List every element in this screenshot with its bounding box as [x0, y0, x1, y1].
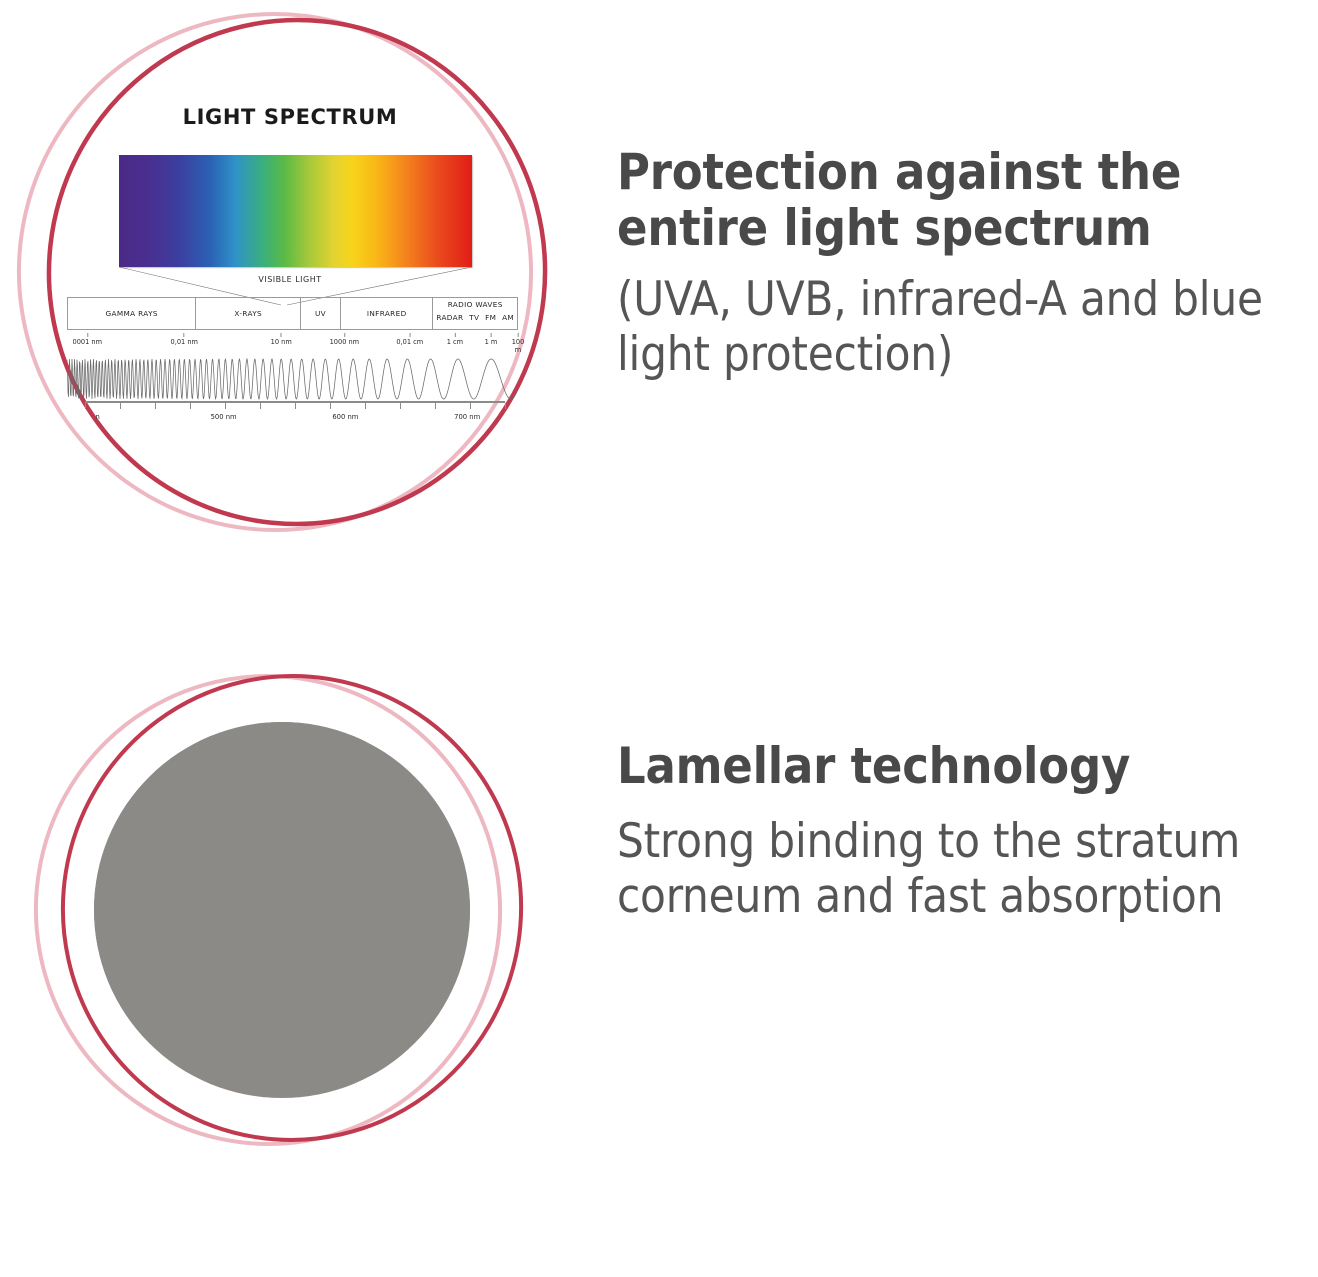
band-label: INFRARED [367, 309, 407, 318]
scale-label: 0001 nm [73, 338, 102, 346]
lamellar-text-column: Lamellar technology Strong binding to th… [617, 738, 1317, 924]
nm-label: 700 nm [454, 413, 480, 421]
photo-background [94, 722, 470, 1098]
axis-tick [120, 403, 121, 409]
axis-tick [225, 403, 226, 409]
scale-label: 10 nm [271, 338, 292, 346]
section-lamellar-technology: Lamellar technology Strong binding to th… [0, 640, 1318, 1277]
scale-item: 1 cm [447, 333, 463, 346]
section-light-spectrum: LIGHT SPECTRUM VISIBLE LIGHT GAMMA RAYS … [0, 0, 1318, 620]
waveform-svg [67, 351, 518, 407]
spectrum-subline: (UVA, UVB, infrared-A and blue light pro… [617, 272, 1317, 382]
scale-item: 10 nm [271, 333, 292, 346]
light-spectrum-infographic: LIGHT SPECTRUM VISIBLE LIGHT GAMMA RAYS … [55, 105, 525, 425]
band-label: X-RAYS [234, 309, 262, 318]
scale-label: 1 cm [447, 338, 463, 346]
wavelength-scale: 0001 nm 0,01 nm 10 nm 1000 nm 0,01 cm 1 … [67, 333, 518, 349]
band-gamma-rays: GAMMA RAYS [68, 298, 196, 329]
axis-tick [435, 403, 436, 409]
scale-item: 0,01 cm [396, 333, 423, 346]
spectrum-headline: Protection against the entire light spec… [617, 144, 1317, 256]
scale-item: 0,01 nm [171, 333, 198, 346]
radio-sub-fm: FM [485, 313, 496, 322]
band-label: RADIO WAVES [448, 300, 503, 309]
lamellar-subline: Strong binding to the stratum corneum an… [617, 814, 1317, 924]
axis-tick [330, 403, 331, 409]
scale-label: 0,01 nm [171, 338, 198, 346]
radio-sub-labels: RADAR TV FM AM [433, 313, 517, 322]
axis-tick [155, 403, 156, 409]
nanometer-axis: n 500 nm 600 nm 700 nm [85, 401, 505, 425]
spectrum-text-column: Protection against the entire light spec… [617, 144, 1317, 382]
scale-label: 0,01 cm [396, 338, 423, 346]
scale-label: 1000 nm [330, 338, 359, 346]
axis-tick [85, 403, 86, 409]
lamellar-headline: Lamellar technology [617, 738, 1317, 794]
band-label: UV [315, 309, 326, 318]
scale-item: 1000 nm [330, 333, 359, 346]
axis-tick [365, 403, 366, 409]
radio-sub-am: AM [502, 313, 514, 322]
band-infrared: INFRARED [341, 298, 433, 329]
axis-tick [470, 403, 471, 409]
axis-tick [190, 403, 191, 409]
nm-label: 600 nm [332, 413, 358, 421]
axis-tick [505, 403, 506, 409]
axis-tick [400, 403, 401, 409]
visible-light-label: VISIBLE LIGHT [55, 275, 525, 284]
waveform-illustration [67, 351, 518, 407]
infographic-page: LIGHT SPECTRUM VISIBLE LIGHT GAMMA RAYS … [0, 0, 1318, 1277]
axis-tick [295, 403, 296, 409]
band-x-rays: X-RAYS [196, 298, 301, 329]
radio-sub-radar: RADAR [436, 313, 463, 322]
band-radio-waves: RADIO WAVES RADAR TV FM AM [433, 298, 517, 329]
spectrum-band-table: GAMMA RAYS X-RAYS UV INFRARED RADIO WAVE… [67, 297, 518, 330]
woman-applying-cream-photo [94, 722, 470, 1098]
visible-spectrum-gradient-bar [119, 155, 472, 267]
scale-item: 0001 nm [73, 333, 102, 346]
axis-tick [260, 403, 261, 409]
nm-label: n [95, 413, 99, 421]
nm-label: 500 nm [211, 413, 237, 421]
scale-label: 1 m [485, 338, 498, 346]
band-uv: UV [301, 298, 341, 329]
band-label: GAMMA RAYS [106, 309, 158, 318]
scale-item: 1 m [485, 333, 498, 346]
spectrum-title: LIGHT SPECTRUM [55, 105, 525, 129]
radio-sub-tv: TV [469, 313, 479, 322]
